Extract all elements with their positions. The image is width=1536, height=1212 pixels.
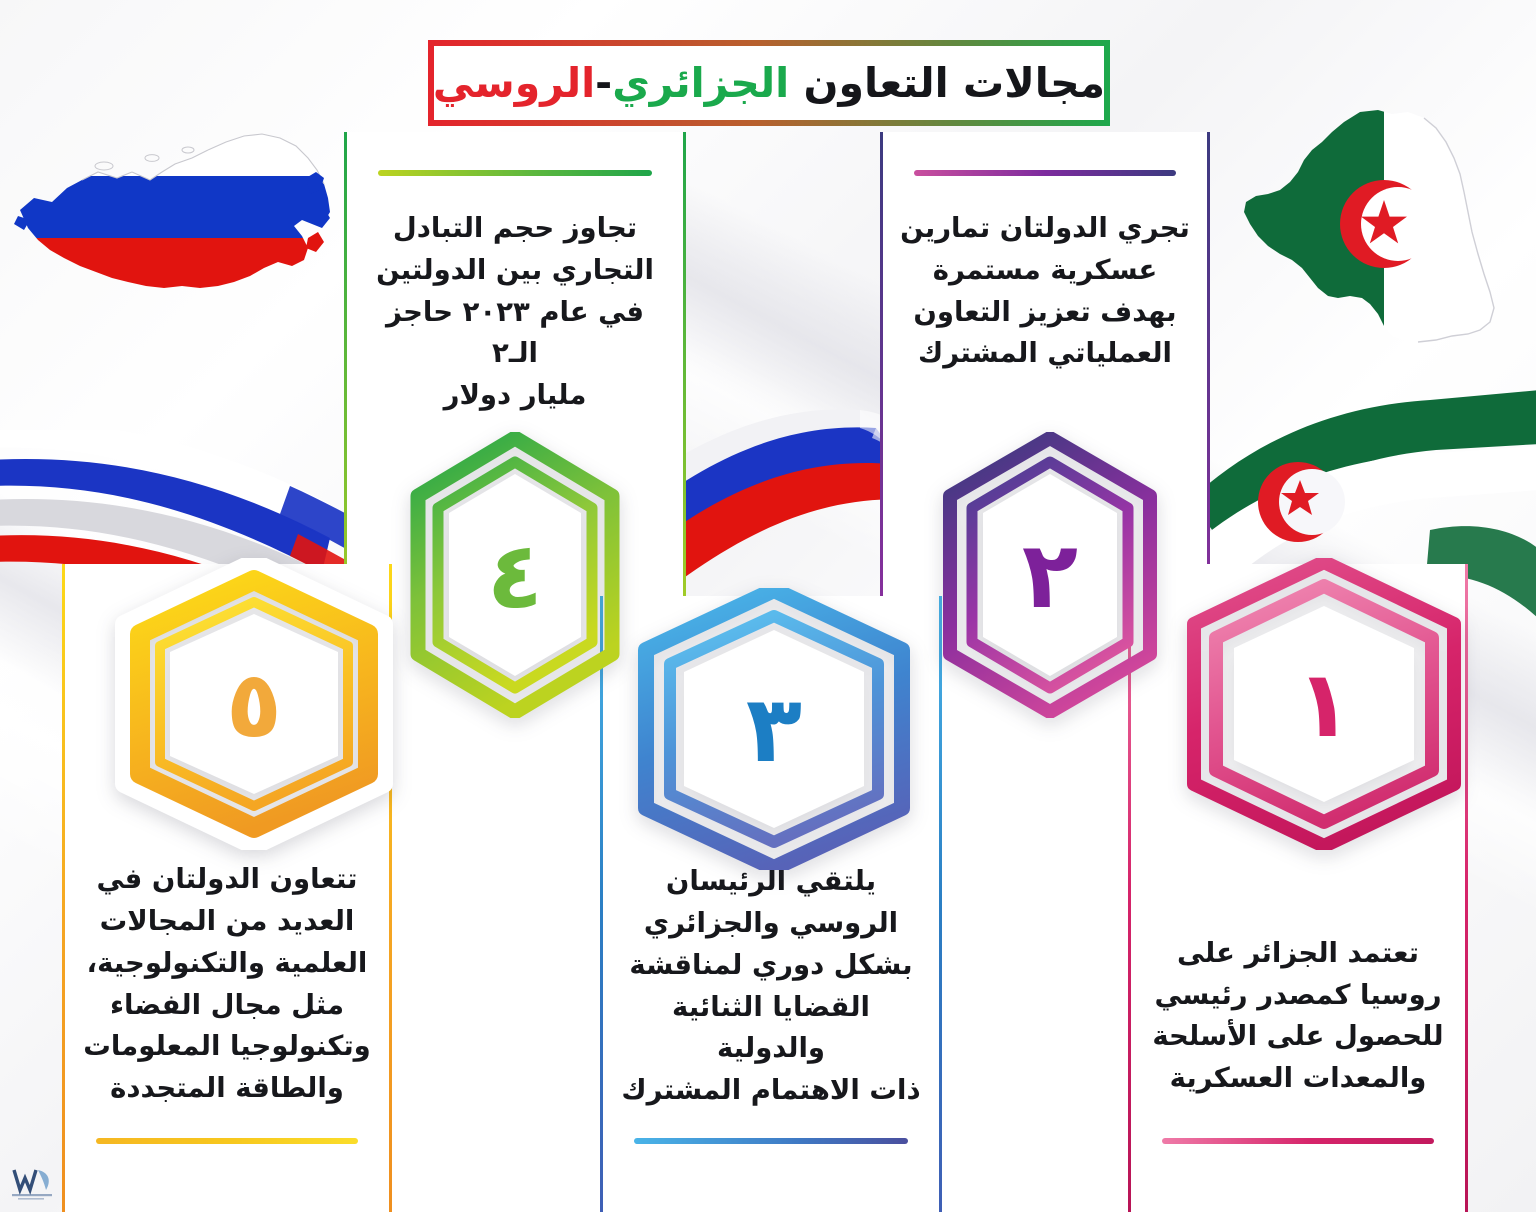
card-3-accent bbox=[634, 1138, 908, 1144]
russia-flag-map bbox=[12, 128, 342, 318]
hexagon-4[interactable]: ٤ bbox=[404, 432, 626, 718]
card-2-accent bbox=[914, 170, 1176, 176]
card-5-accent bbox=[96, 1138, 358, 1144]
infographic-canvas: تجاوز حجم التبادل التجاري بين الدولتين ف… bbox=[0, 0, 1536, 1212]
hexagon-2[interactable]: ٢ bbox=[936, 432, 1164, 718]
card-2-text: تجري الدولتان تمارين عسكرية مستمرة بهدف … bbox=[898, 208, 1192, 375]
card-1-accent bbox=[1162, 1138, 1434, 1144]
title-banner: مجالات التعاون الجزائري-الروسي bbox=[428, 40, 1110, 126]
title-segment-algerian: الجزائري bbox=[612, 59, 789, 107]
hexagon-5[interactable]: ٥ bbox=[110, 558, 398, 850]
card-3-text: يلتقي الرئيسان الروسي والجزائري بشكل دور… bbox=[618, 861, 924, 1112]
title-segment-main: مجالات التعاون bbox=[789, 59, 1105, 107]
hexagon-1[interactable]: ١ bbox=[1180, 558, 1468, 850]
page-title: مجالات التعاون الجزائري-الروسي bbox=[433, 59, 1105, 107]
title-segment-russian: الروسي bbox=[433, 59, 595, 107]
card-5-text: تتعاون الدولتان في العديد من المجالات ال… bbox=[80, 859, 374, 1110]
card-4-accent bbox=[378, 170, 652, 176]
card-1-text: تعتمد الجزائر على روسيا كمصدر رئيسي للحص… bbox=[1146, 933, 1450, 1100]
title-segment-dash: - bbox=[595, 59, 612, 107]
card-4-text: تجاوز حجم التبادل التجاري بين الدولتين ف… bbox=[362, 208, 668, 417]
hexagon-3[interactable]: ٣ bbox=[630, 588, 918, 870]
algeria-flag-map bbox=[1232, 108, 1532, 418]
publisher-logo bbox=[8, 1160, 64, 1204]
